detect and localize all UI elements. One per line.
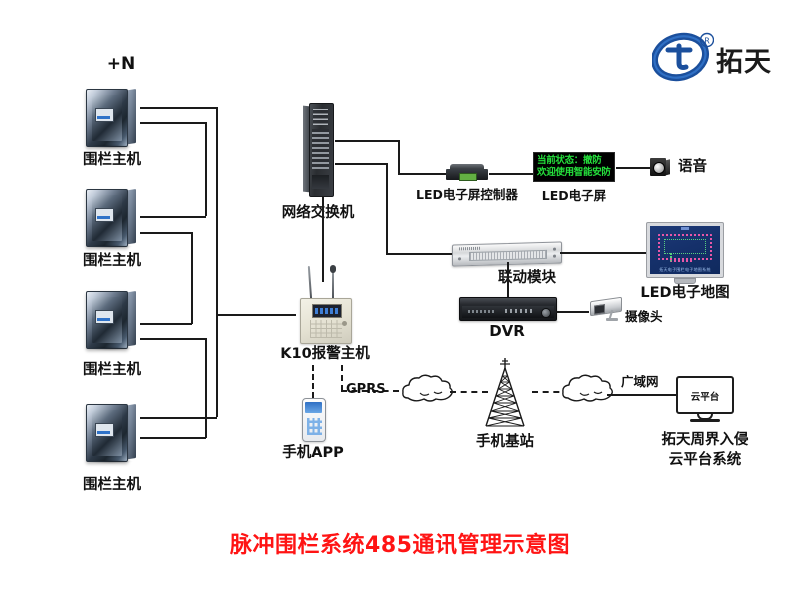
fence-host-device-2[interactable] — [85, 188, 137, 246]
fence-host-device-4[interactable] — [85, 403, 137, 461]
brand-name: 拓天 — [716, 40, 772, 79]
wire-switch-linkage-b — [386, 163, 388, 254]
voice-speaker-icon[interactable] — [650, 158, 670, 176]
wire-linkage-dvr — [507, 262, 509, 298]
gprs-label: GPRS — [346, 383, 386, 398]
wire-wan — [607, 394, 678, 396]
fence-host-device-3[interactable] — [85, 290, 137, 348]
wire-main-bus — [216, 107, 218, 417]
led-screen-line1: 当前状态：撤防 — [537, 155, 611, 167]
led-screen-device[interactable]: 当前状态：撤防 欢迎使用智能安防 — [533, 152, 615, 182]
wire-ledctrl-ledscreen — [489, 173, 533, 175]
diagram-canvas: R 拓天 +N 围栏主机 围栏主机 围栏主机 围栏主机 — [0, 0, 800, 600]
wire-switch-linkage-c — [386, 253, 452, 255]
dash-k10-gprs — [341, 365, 343, 391]
k10-alarm-host-device[interactable] — [296, 266, 354, 342]
wire-fh1-out — [140, 122, 206, 124]
fence-host-label-4: 围栏主机 — [83, 477, 141, 494]
wire-fh4-in — [140, 437, 206, 439]
brand-logo-icon: R — [652, 32, 714, 86]
led-map-label: LED电子地图 — [640, 285, 729, 302]
phone-app-device[interactable] — [302, 398, 326, 442]
cloud-right-icon — [560, 372, 616, 410]
wire-fh2-in — [140, 216, 206, 218]
wire-fh3-down — [205, 338, 207, 438]
wan-label: 广域网 — [621, 375, 659, 389]
cloud-platform-caption-line2: 云平台系统 — [669, 452, 742, 469]
diagram-title: 脉冲围栏系统485通讯管理示意图 — [230, 527, 570, 559]
fence-host-label-2: 围栏主机 — [83, 253, 141, 270]
network-switch-device[interactable] — [303, 103, 339, 195]
cloud-platform-caption-line1: 拓天周界入侵 — [662, 432, 749, 449]
wire-fh1-down — [205, 122, 207, 216]
wire-ledscreen-voice — [616, 167, 651, 169]
wire-linkage-ledmap — [560, 252, 646, 254]
wire-switch-ledctrl-c — [398, 173, 446, 175]
led-screen-label: LED电子屏 — [542, 189, 606, 203]
voice-label: 语音 — [678, 159, 707, 176]
dvr-device[interactable] — [459, 297, 557, 321]
wire-fh3-in — [140, 323, 192, 325]
led-controller-label: LED电子屏控制器 — [416, 188, 518, 202]
fence-host-label-3: 围栏主机 — [83, 362, 141, 379]
wire-bus-to-k10 — [216, 314, 296, 316]
wire-switch-ledctrl-b — [398, 140, 400, 174]
cloud-platform-screen-label: 云平台 — [678, 389, 732, 403]
cloud-left-icon — [400, 372, 456, 410]
dvr-label: DVR — [489, 323, 525, 340]
wire-switch-linkage-a — [335, 163, 387, 165]
wire-switch-ledctrl-a — [335, 140, 399, 142]
led-screen-line2: 欢迎使用智能安防 — [537, 167, 611, 179]
wire-fh3-out — [140, 338, 206, 340]
base-station-label: 手机基站 — [476, 434, 534, 451]
led-map-screen-caption: 拓天电子围栏电子地图系统 — [650, 267, 720, 273]
fence-host-device-1[interactable] — [85, 88, 137, 146]
wire-bus-bottom — [140, 417, 217, 419]
wire-fh2-down — [191, 232, 193, 324]
phone-app-label: 手机APP — [282, 445, 343, 462]
k10-alarm-host-label: K10报警主机 — [280, 346, 369, 363]
led-map-device[interactable]: 拓天电子围栏电子地图系统 — [646, 222, 724, 284]
camera-device[interactable] — [588, 298, 628, 324]
wire-bus-top — [140, 107, 217, 109]
svg-text:R: R — [704, 37, 710, 46]
wire-fh2-out — [140, 232, 192, 234]
camera-label: 摄像头 — [625, 310, 663, 324]
cloud-platform-monitor[interactable]: 云平台 — [676, 376, 734, 424]
wire-dvr-camera — [556, 311, 589, 313]
base-station-tower-icon — [478, 358, 532, 434]
fence-host-label-1: 围栏主机 — [83, 152, 141, 169]
network-switch-label: 网络交换机 — [282, 205, 355, 222]
plus-n-label: +N — [107, 55, 135, 75]
led-controller-device[interactable] — [446, 164, 488, 182]
